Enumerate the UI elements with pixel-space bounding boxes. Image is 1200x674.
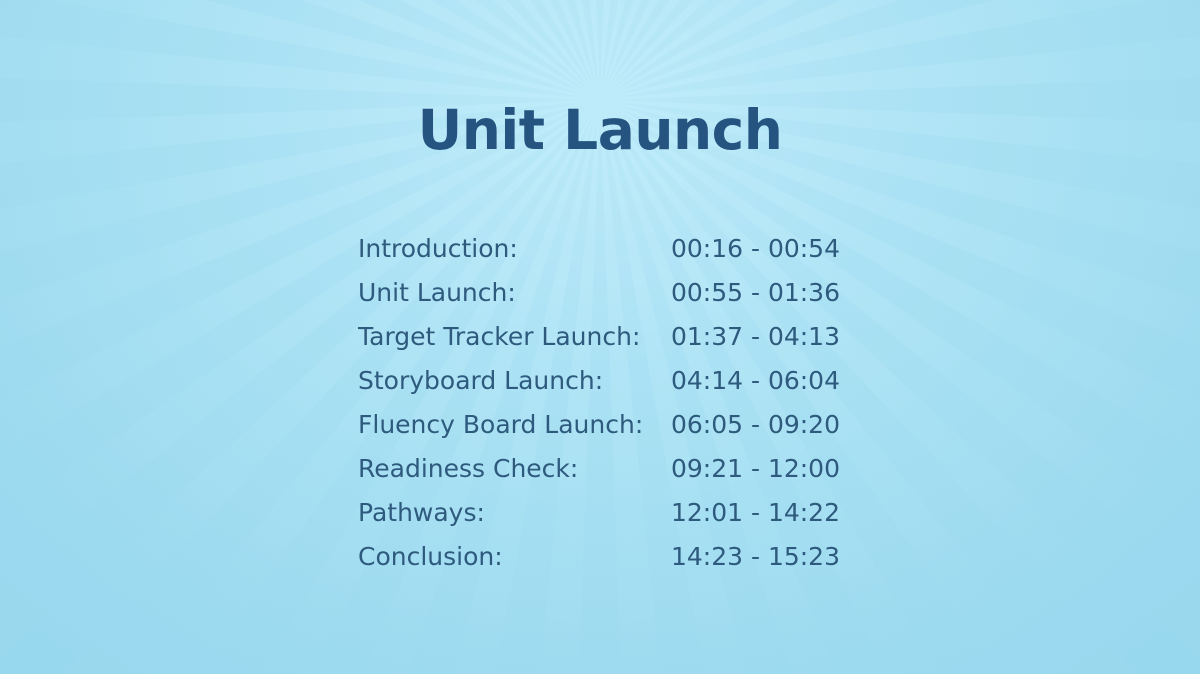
list-item: Unit Launch: 00:55 - 01:36 xyxy=(358,278,840,322)
agenda-item-label: Pathways: xyxy=(358,498,485,527)
agenda-item-label: Introduction: xyxy=(358,234,518,263)
list-item: Fluency Board Launch: 06:05 - 09:20 xyxy=(358,410,840,454)
presentation-slide: Unit Launch Introduction: 00:16 - 00:54 … xyxy=(0,0,1200,674)
agenda-item-label: Readiness Check: xyxy=(358,454,578,483)
agenda-item-label: Fluency Board Launch: xyxy=(358,410,643,439)
list-item: Readiness Check: 09:21 - 12:00 xyxy=(358,454,840,498)
agenda-item-time: 09:21 - 12:00 xyxy=(671,454,840,483)
list-item: Conclusion: 14:23 - 15:23 xyxy=(358,542,840,586)
agenda-item-label: Storyboard Launch: xyxy=(358,366,603,395)
agenda-item-time: 04:14 - 06:04 xyxy=(671,366,840,395)
page-title: Unit Launch xyxy=(0,102,1200,160)
list-item: Pathways: 12:01 - 14:22 xyxy=(358,498,840,542)
slide-content: Unit Launch Introduction: 00:16 - 00:54 … xyxy=(0,0,1200,674)
agenda-list: Introduction: 00:16 - 00:54 Unit Launch:… xyxy=(358,234,840,586)
list-item: Storyboard Launch: 04:14 - 06:04 xyxy=(358,366,840,410)
list-item: Target Tracker Launch: 01:37 - 04:13 xyxy=(358,322,840,366)
agenda-item-label: Conclusion: xyxy=(358,542,503,571)
agenda-item-time: 01:37 - 04:13 xyxy=(671,322,840,351)
agenda-item-time: 14:23 - 15:23 xyxy=(671,542,840,571)
agenda-item-label: Target Tracker Launch: xyxy=(358,322,640,351)
agenda-item-label: Unit Launch: xyxy=(358,278,516,307)
agenda-item-time: 06:05 - 09:20 xyxy=(671,410,840,439)
agenda-item-time: 00:16 - 00:54 xyxy=(671,234,840,263)
agenda-item-time: 00:55 - 01:36 xyxy=(671,278,840,307)
list-item: Introduction: 00:16 - 00:54 xyxy=(358,234,840,278)
agenda-item-time: 12:01 - 14:22 xyxy=(671,498,840,527)
